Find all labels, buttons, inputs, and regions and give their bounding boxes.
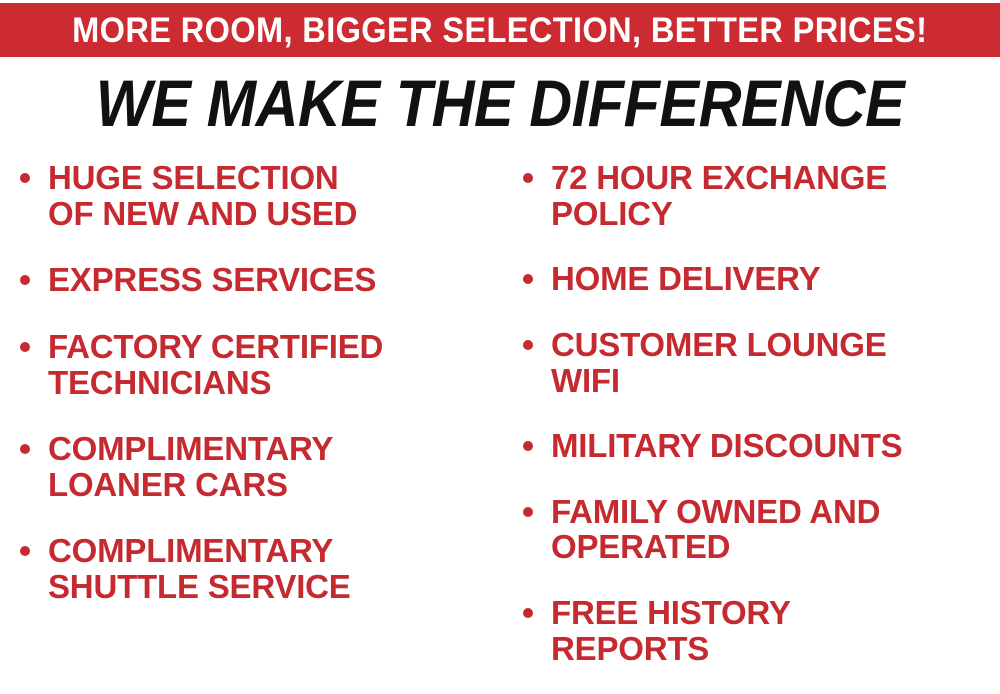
benefits-column-left: HUGE SELECTION OF NEW AND USED EXPRESS S… (0, 160, 500, 636)
banner-headline: MORE ROOM, BIGGER SELECTION, BETTER PRIC… (72, 13, 927, 48)
list-item-label: MILITARY DISCOUNTS (551, 428, 996, 464)
bullet-dot-icon (523, 274, 533, 284)
list-item: MILITARY DISCOUNTS (523, 428, 996, 464)
bullet-dot-icon (523, 340, 533, 350)
bullet-dot-icon (523, 608, 533, 618)
list-item-label: HUGE SELECTION OF NEW AND USED (48, 160, 494, 231)
list-item: FAMILY OWNED AND OPERATED (523, 494, 996, 565)
bullet-dot-icon (20, 342, 30, 352)
promo-poster: MORE ROOM, BIGGER SELECTION, BETTER PRIC… (0, 0, 1000, 694)
list-item-label: CUSTOMER LOUNGE WIFI (551, 327, 996, 398)
bullet-dot-icon (20, 444, 30, 454)
list-item: EXPRESS SERVICES (20, 262, 494, 298)
benefits-column-right: 72 HOUR EXCHANGE POLICY HOME DELIVERY CU… (500, 160, 1000, 694)
list-item-label: FACTORY CERTIFIED TECHNICIANS (48, 329, 494, 400)
list-item-label: FAMILY OWNED AND OPERATED (551, 494, 996, 565)
list-item: CUSTOMER LOUNGE WIFI (523, 327, 996, 398)
bullet-dot-icon (523, 507, 533, 517)
bullet-dot-icon (523, 441, 533, 451)
bullet-dot-icon (20, 546, 30, 556)
list-item: FACTORY CERTIFIED TECHNICIANS (20, 329, 494, 400)
list-item-label: 72 HOUR EXCHANGE POLICY (551, 160, 996, 231)
list-item: HUGE SELECTION OF NEW AND USED (20, 160, 494, 231)
benefits-columns: HUGE SELECTION OF NEW AND USED EXPRESS S… (0, 160, 1000, 694)
list-item: FREE HISTORY REPORTS (523, 595, 996, 666)
list-item-label: HOME DELIVERY (551, 261, 996, 297)
list-item: HOME DELIVERY (523, 261, 996, 297)
list-item: COMPLIMENTARY LOANER CARS (20, 431, 494, 502)
list-item-label: FREE HISTORY REPORTS (551, 595, 996, 666)
list-item-label: COMPLIMENTARY SHUTTLE SERVICE (48, 533, 494, 604)
bullet-dot-icon (20, 275, 30, 285)
bullet-dot-icon (20, 173, 30, 183)
bullet-dot-icon (523, 173, 533, 183)
list-item-label: EXPRESS SERVICES (48, 262, 494, 298)
list-item-label: COMPLIMENTARY LOANER CARS (48, 431, 494, 502)
list-item: 72 HOUR EXCHANGE POLICY (523, 160, 996, 231)
list-item: COMPLIMENTARY SHUTTLE SERVICE (20, 533, 494, 604)
top-banner: MORE ROOM, BIGGER SELECTION, BETTER PRIC… (0, 3, 1000, 57)
page-title: WE MAKE THE DIFFERENCE (50, 70, 950, 136)
